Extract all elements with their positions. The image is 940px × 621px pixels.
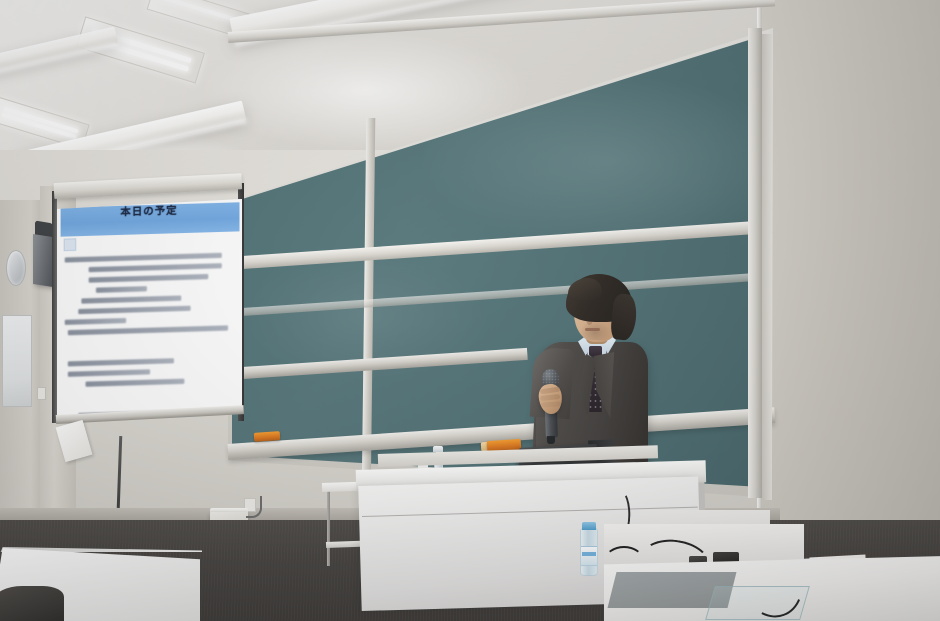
hair-fringe (568, 278, 602, 300)
microphone-base (547, 436, 555, 444)
tie-knot (589, 346, 602, 356)
chalkboard-right-post (748, 28, 762, 498)
wall-clock-icon (6, 250, 26, 286)
bottle-cap[interactable] (582, 522, 596, 530)
slide-text-line (65, 253, 222, 263)
slide-text-line (65, 318, 126, 325)
door-panel[interactable] (2, 315, 32, 407)
foreground-chair[interactable] (0, 586, 64, 621)
projection-screen-surface: 本日の予定 (56, 199, 242, 421)
chalk-box-orange-left[interactable] (254, 431, 281, 442)
mouth (585, 328, 600, 331)
slide-text-line (68, 325, 228, 335)
light-switch-plate[interactable] (37, 387, 46, 400)
presentation-slide: 本日の予定 (56, 199, 242, 421)
slide-text-line (89, 263, 222, 272)
slide-logo-placeholder (64, 238, 76, 251)
bottle-label-stripe (582, 552, 596, 556)
slide-text-line (68, 358, 174, 366)
hair-side (610, 293, 639, 341)
bottle-label (581, 546, 597, 566)
slide-body-text (65, 252, 236, 419)
slide-text-line (82, 296, 181, 304)
right-wall (760, 0, 940, 590)
chalkboard-right-post-outer (762, 34, 772, 500)
chalkboard-assembly (228, 28, 773, 498)
side-table-leg (327, 490, 330, 566)
screen-frame-left (52, 191, 57, 423)
slide-text-line (85, 379, 184, 387)
slide-text-line (78, 306, 191, 315)
slide-text-line (89, 274, 208, 283)
projection-screen-assembly: 本日の予定 (52, 183, 242, 438)
slide-text-line (95, 286, 146, 293)
slide-text-line (68, 369, 150, 377)
lecture-hall-photo: 本日の予定 (0, 0, 940, 621)
